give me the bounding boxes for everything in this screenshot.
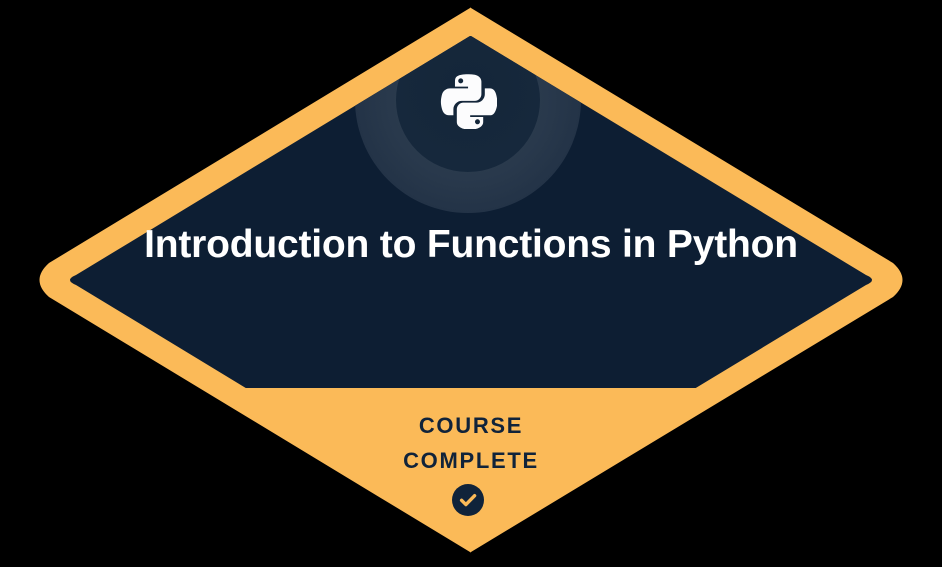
- badge-shape: [0, 0, 942, 567]
- certificate-badge-canvas: Introduction to Functions in Python COUR…: [0, 0, 942, 567]
